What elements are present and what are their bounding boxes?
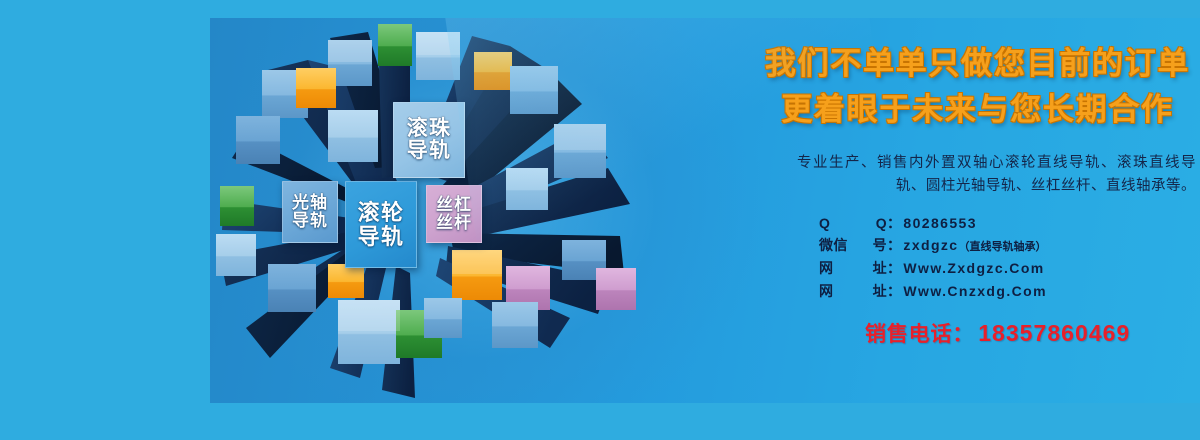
contact-value-website-1[interactable]: Www.Zxdgzc.Com bbox=[903, 257, 1044, 280]
content-column: 我们不单单只做您目前的订单 更着眼于未来与您长期合作 专业生产、销售内外置双轴心… bbox=[745, 18, 1200, 403]
chip-line-2: 导轨 bbox=[407, 140, 452, 162]
contact-note-wechat: （直线导轨轴承） bbox=[959, 239, 1047, 257]
banner-root: 滚珠 导轨 光轴 导轨 滚轮 导轨 丝杠 丝杆 我们不单单只做您目前的订单 更着… bbox=[0, 0, 1200, 440]
contact-colon: ： bbox=[887, 280, 901, 303]
contact-colon: ： bbox=[887, 257, 901, 280]
contact-label: 微信 号 bbox=[819, 234, 887, 257]
contact-row-qq: Q Q ： 80286553 bbox=[819, 212, 1200, 235]
contact-label: 网 址 bbox=[819, 280, 887, 303]
sales-phone-number: 18357860469 bbox=[978, 320, 1130, 347]
contact-block: Q Q ： 80286553 微信 号 ： zxdgzc （直线导轨轴承） bbox=[745, 212, 1200, 303]
contact-colon: ： bbox=[887, 212, 901, 235]
product-chip-gunlun-daogui: 滚轮 导轨 bbox=[345, 181, 417, 268]
chip-line-2: 导轨 bbox=[358, 225, 405, 248]
banner-panel: 滚珠 导轨 光轴 导轨 滚轮 导轨 丝杠 丝杆 我们不单单只做您目前的订单 更着… bbox=[210, 18, 1200, 403]
chip-line-2: 丝杆 bbox=[436, 214, 472, 232]
contact-row-website-2: 网 址 ： Www.Cnzxdg.Com bbox=[819, 280, 1200, 303]
contact-value-website-2[interactable]: Www.Cnzxdg.Com bbox=[903, 280, 1047, 303]
contact-colon: ： bbox=[887, 234, 901, 257]
contact-label: 网 址 bbox=[819, 257, 887, 280]
chip-line-1: 丝杠 bbox=[436, 196, 472, 214]
chip-line-1: 光轴 bbox=[292, 194, 328, 212]
contact-value-wechat: zxdgzc bbox=[903, 234, 958, 257]
contact-value-qq: 80286553 bbox=[903, 212, 977, 235]
contact-label: Q Q bbox=[819, 212, 887, 235]
contact-row-wechat: 微信 号 ： zxdgzc （直线导轨轴承） bbox=[819, 234, 1200, 257]
chip-line-2: 导轨 bbox=[292, 212, 328, 230]
chip-line-1: 滚珠 bbox=[407, 118, 452, 140]
headline-line-1: 我们不单单只做您目前的订单 bbox=[745, 44, 1200, 84]
chip-line-1: 滚轮 bbox=[358, 201, 405, 224]
product-chip-sigang-sigan: 丝杠 丝杆 bbox=[426, 185, 482, 243]
product-chip-gunzhu-daogui: 滚珠 导轨 bbox=[393, 102, 465, 178]
sales-phone-label: 销售电话： bbox=[865, 318, 974, 348]
contact-row-website-1: 网 址 ： Www.Zxdgzc.Com bbox=[819, 257, 1200, 280]
product-chip-guangzhou-daogui: 光轴 导轨 bbox=[282, 181, 338, 243]
description-text: 专业生产、销售内外置双轴心滚轮直线导轨、滚珠直线导轨、圆柱光轴导轨、丝杠丝杆、直… bbox=[745, 152, 1200, 199]
headline-line-2: 更着眼于未来与您长期合作 bbox=[745, 90, 1200, 130]
cube-cluster-artwork bbox=[210, 18, 640, 403]
sales-phone-block: 销售电话： 18357860469 bbox=[745, 318, 1200, 348]
